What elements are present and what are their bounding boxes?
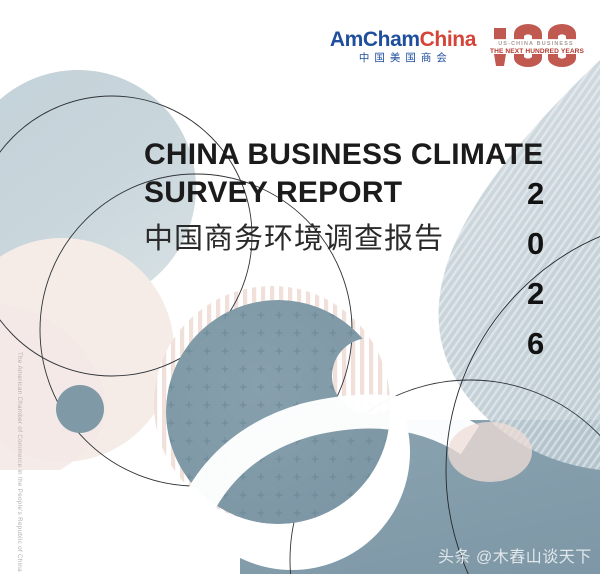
year-2026: 2 0 2 6 bbox=[527, 178, 544, 378]
report-cover-page: AmChamChina 中国美国商会 US-CHINA bbox=[0, 0, 600, 574]
year-digit-2: 0 bbox=[527, 228, 544, 259]
shape-small-circle bbox=[56, 385, 104, 433]
organization-vertical-text: The American Chamber of Commerce in the … bbox=[16, 352, 23, 552]
year-digit-1: 2 bbox=[527, 178, 544, 209]
centennial-bottom-line: THE NEXT HUNDRED YEARS bbox=[490, 48, 582, 55]
cover-title-block: CHINA BUSINESS CLIMATE SURVEY REPORT 中国商… bbox=[144, 136, 524, 257]
centennial-top-line: US-CHINA BUSINESS bbox=[490, 41, 582, 47]
title-line-2: SURVEY REPORT bbox=[144, 174, 524, 212]
amcham-wordmark-china: China bbox=[420, 28, 476, 51]
title-chinese: 中国商务环境调查报告 bbox=[144, 222, 524, 257]
year-digit-3: 2 bbox=[527, 278, 544, 309]
year-digit-4: 6 bbox=[527, 328, 544, 359]
amcham-chinese-name: 中国美国商会 bbox=[354, 53, 452, 64]
amcham-china-logo: AmChamChina 中国美国商会 bbox=[330, 29, 476, 64]
shape-beige-blob-br bbox=[448, 422, 532, 482]
watermark-text: 头条 @木舂山谈天下 bbox=[438, 543, 592, 567]
amcham-wordmark: AmChamChina bbox=[330, 29, 476, 50]
amcham-wordmark-am: AmCham bbox=[330, 28, 420, 51]
title-line-1: CHINA BUSINESS CLIMATE bbox=[144, 136, 524, 174]
amcham-logo-block: AmChamChina 中国美国商会 US-CHINA bbox=[330, 24, 582, 68]
cover-background-artwork bbox=[0, 0, 600, 574]
centennial-100-logo: US-CHINA BUSINESS THE NEXT HUNDRED YEARS bbox=[490, 24, 582, 68]
